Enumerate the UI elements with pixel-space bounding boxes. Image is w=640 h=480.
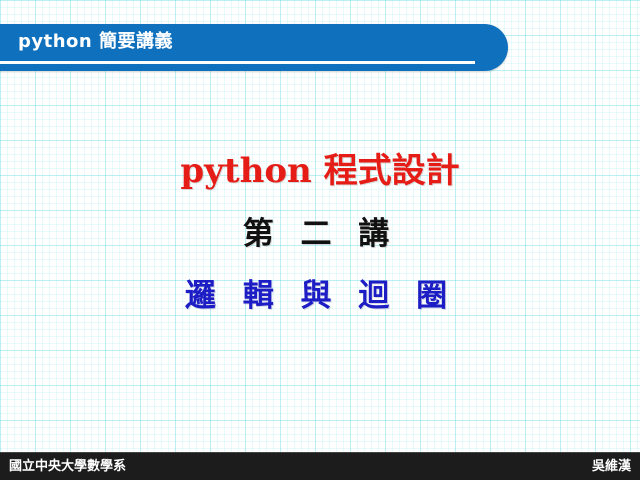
footer-author: 吳維漢 xyxy=(592,453,631,480)
lecture-number-label: 第 二 講 xyxy=(0,212,640,256)
slide-title-block: python 程式設計 第 二 講 邏 輯 與 迴 圈 xyxy=(0,148,640,318)
page-title: python 程式設計 xyxy=(0,148,640,194)
footer-bar: 國立中央大學數學系 吳維漢 xyxy=(0,452,640,480)
lecture-subject-label: 邏 輯 與 迴 圈 xyxy=(0,274,640,318)
footer-organization: 國立中央大學數學系 xyxy=(9,453,126,480)
presentation-slide: python 簡要講義 python 程式設計 第 二 講 邏 輯 與 迴 圈 … xyxy=(0,0,640,480)
header-title: python 簡要講義 xyxy=(18,28,173,56)
header-banner: python 簡要講義 xyxy=(0,24,508,71)
header-underline-rule xyxy=(0,61,475,64)
